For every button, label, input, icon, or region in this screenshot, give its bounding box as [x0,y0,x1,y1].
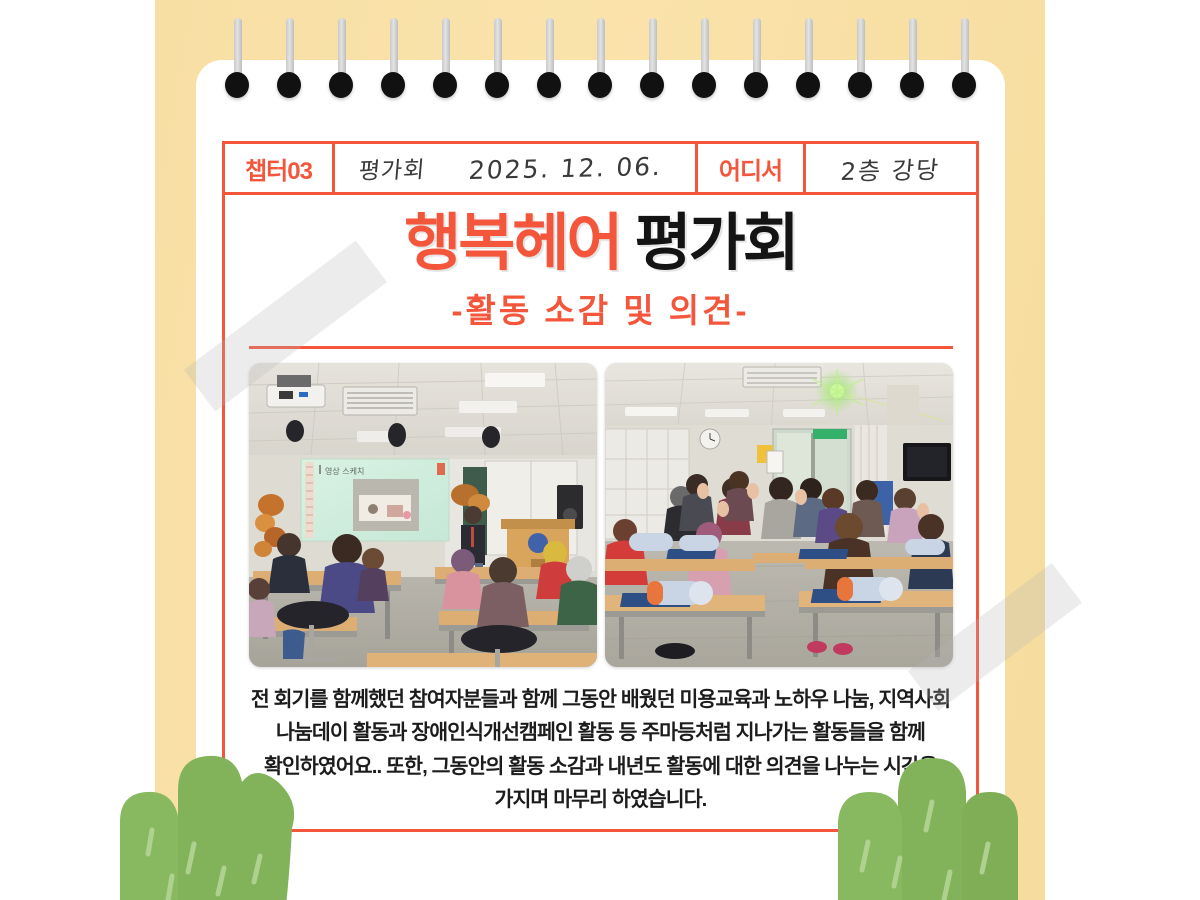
photo-group-waving-image [605,363,953,667]
spiral-ring-icon [957,18,971,114]
photo-lecture-room: 영상 스케치 [249,363,597,667]
page-subtitle: -활동 소감 및 의견- [225,284,976,332]
title-area: 행복헤어 평가회 -활동 소감 및 의견- [225,195,976,349]
spiral-ring-icon [334,18,348,114]
page-title: 행복헤어 평가회 [225,211,976,276]
chapter-badge: 챕터03 [225,144,335,192]
spiral-ring-icon [282,18,296,114]
body-paragraph: 전 회기를 함께했던 참여자분들과 함께 그동안 배웠던 미용교육과 노하우 나… [243,683,959,816]
place-cell: 2층 강당 [806,144,976,192]
event-date: 2025. 12. 06. [468,151,664,184]
svg-text:영상 스케치: 영상 스케치 [325,466,364,476]
content-frame: 챕터03 평가회 2025. 12. 06. 어디서 2층 강당 행복헤어 평가… [222,141,979,832]
where-label: 어디서 [698,144,806,192]
spiral-binding [196,18,1005,114]
spiral-ring-icon [230,18,244,114]
title-part-black: 평가회 [635,209,797,278]
projection-screen: 영상 스케치 [301,459,449,541]
photo-gallery: 영상 스케치 [225,363,976,667]
spiral-ring-icon [697,18,711,114]
title-part-orange: 행복헤어 [404,209,620,278]
activity-date-cell: 평가회 2025. 12. 06. [335,144,698,192]
spiral-ring-icon [593,18,607,114]
spiral-ring-icon [853,18,867,114]
photo-lecture-room-image: 영상 스케치 [249,363,597,667]
spiral-ring-icon [801,18,815,114]
spiral-ring-icon [386,18,400,114]
photo-group-waving [605,363,953,667]
card-news-canvas: 챕터03 평가회 2025. 12. 06. 어디서 2층 강당 행복헤어 평가… [0,0,1200,900]
place-value: 2층 강당 [840,149,942,186]
meta-header-row: 챕터03 평가회 2025. 12. 06. 어디서 2층 강당 [225,144,976,195]
spiral-ring-icon [905,18,919,114]
spiral-ring-icon [645,18,659,114]
spiral-ring-icon [438,18,452,114]
spiral-ring-icon [490,18,504,114]
activity-label: 평가회 [358,150,427,185]
spiral-ring-icon [749,18,763,114]
spiral-ring-icon [542,18,556,114]
title-divider [249,346,953,349]
